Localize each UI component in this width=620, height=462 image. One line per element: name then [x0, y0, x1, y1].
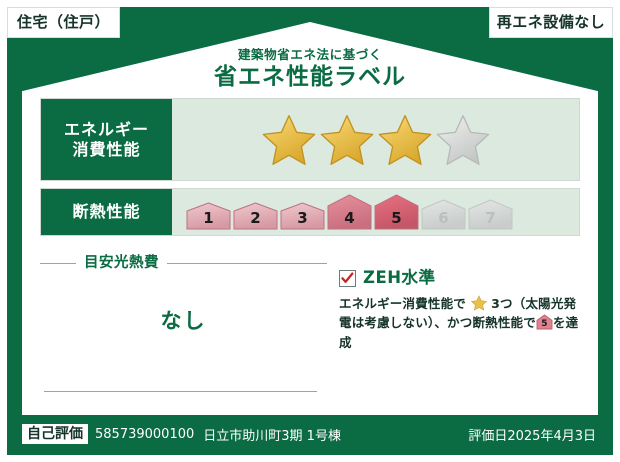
insulation-step: 7 [468, 194, 513, 230]
insulation-scale: 1234567 [186, 194, 513, 230]
zeh-description: エネルギー消費性能で 3つ（太陽光発電は考慮しない）、かつ断熱性能で 5 を達成 [339, 294, 580, 352]
label-id: 585739000100 [95, 427, 194, 442]
zeh-desc-star-icon [466, 296, 491, 311]
check-icon [341, 272, 354, 285]
star-rating [262, 114, 490, 166]
zeh-title: ZEH水準 [363, 270, 436, 287]
assessment-type-badge: 自己評価 [22, 424, 88, 444]
energy-label-line1: エネルギー [64, 120, 149, 140]
star-empty-icon [436, 114, 490, 166]
insulation-step: 6 [421, 194, 466, 230]
insulation-step: 1 [186, 194, 231, 230]
lower-section: 目安光熱費 なし ZEH水準 エネルギー消費性能で [40, 254, 580, 409]
zeh-desc-house-icon: 5 [536, 314, 553, 330]
insulation-performance-label: 断熱性能 [41, 189, 172, 235]
energy-performance-row: エネルギー 消費性能 [40, 98, 580, 181]
utility-cost-value: なし [40, 305, 327, 335]
cost-rule-right [167, 263, 327, 264]
star-filled-icon [262, 114, 316, 166]
energy-performance-label: 住宅（住戸） 再エネ設備なし 建築物省エネ法に基づく 省エネ性能ラベル エネルギ… [0, 0, 620, 462]
insulation-step: 4 [327, 194, 372, 230]
insulation-step: 2 [233, 194, 278, 230]
insulation-step: 3 [280, 194, 325, 230]
insulation-step-number: 4 [327, 211, 372, 226]
star-filled-icon [378, 114, 432, 166]
zeh-desc-house-number: 5 [536, 320, 553, 329]
cost-bottom-divider [44, 391, 317, 392]
page-title: 省エネ性能ラベル [214, 66, 406, 89]
insulation-step-number: 2 [233, 211, 278, 226]
energy-performance-value [172, 99, 579, 180]
insulation-step-number: 1 [186, 211, 231, 226]
insulation-step: 5 [374, 194, 419, 230]
footer-bar: 自己評価 585739000100 日立市助川町3期 1号棟 評価日2025年4… [22, 419, 598, 449]
property-address: 日立市助川町3期 1号棟 [203, 425, 341, 444]
energy-performance-label: エネルギー 消費性能 [41, 99, 172, 180]
insulation-step-number: 6 [421, 211, 466, 226]
star-filled-icon [320, 114, 374, 166]
cost-rule-left [40, 263, 76, 264]
performance-rows: エネルギー 消費性能 断熱性能 1234567 [40, 98, 580, 243]
zeh-desc-part1: エネルギー消費性能で [339, 296, 466, 311]
building-type-tag: 住宅（住戸） [7, 7, 120, 38]
renewable-equipment-tag: 再エネ設備なし [489, 7, 613, 38]
insulation-label-text: 断熱性能 [72, 202, 140, 222]
utility-cost-header: 目安光熱費 [40, 256, 327, 271]
insulation-performance-value: 1234567 [172, 189, 579, 235]
zeh-block: ZEH水準 エネルギー消費性能で 3つ（太陽光発電は考慮しない）、かつ断熱性能で… [327, 254, 580, 409]
label-subtitle: 建築物省エネ法に基づく [238, 49, 382, 62]
insulation-step-number: 3 [280, 211, 325, 226]
insulation-step-number: 5 [374, 211, 419, 226]
utility-cost-title: 目安光熱費 [84, 256, 159, 271]
energy-label-line2: 消費性能 [72, 140, 140, 160]
utility-cost-block: 目安光熱費 なし [40, 254, 327, 409]
evaluation-date: 評価日2025年4月3日 [468, 425, 598, 444]
zeh-header: ZEH水準 [339, 270, 580, 287]
zeh-checkbox[interactable] [339, 270, 356, 287]
label-body-panel: 建築物省エネ法に基づく 省エネ性能ラベル エネルギー 消費性能 断熱性能 [22, 22, 598, 415]
star-icon [471, 295, 487, 311]
insulation-performance-row: 断熱性能 1234567 [40, 188, 580, 236]
insulation-step-number: 7 [468, 211, 513, 226]
zeh-desc-star-count: 3つ [491, 296, 513, 311]
